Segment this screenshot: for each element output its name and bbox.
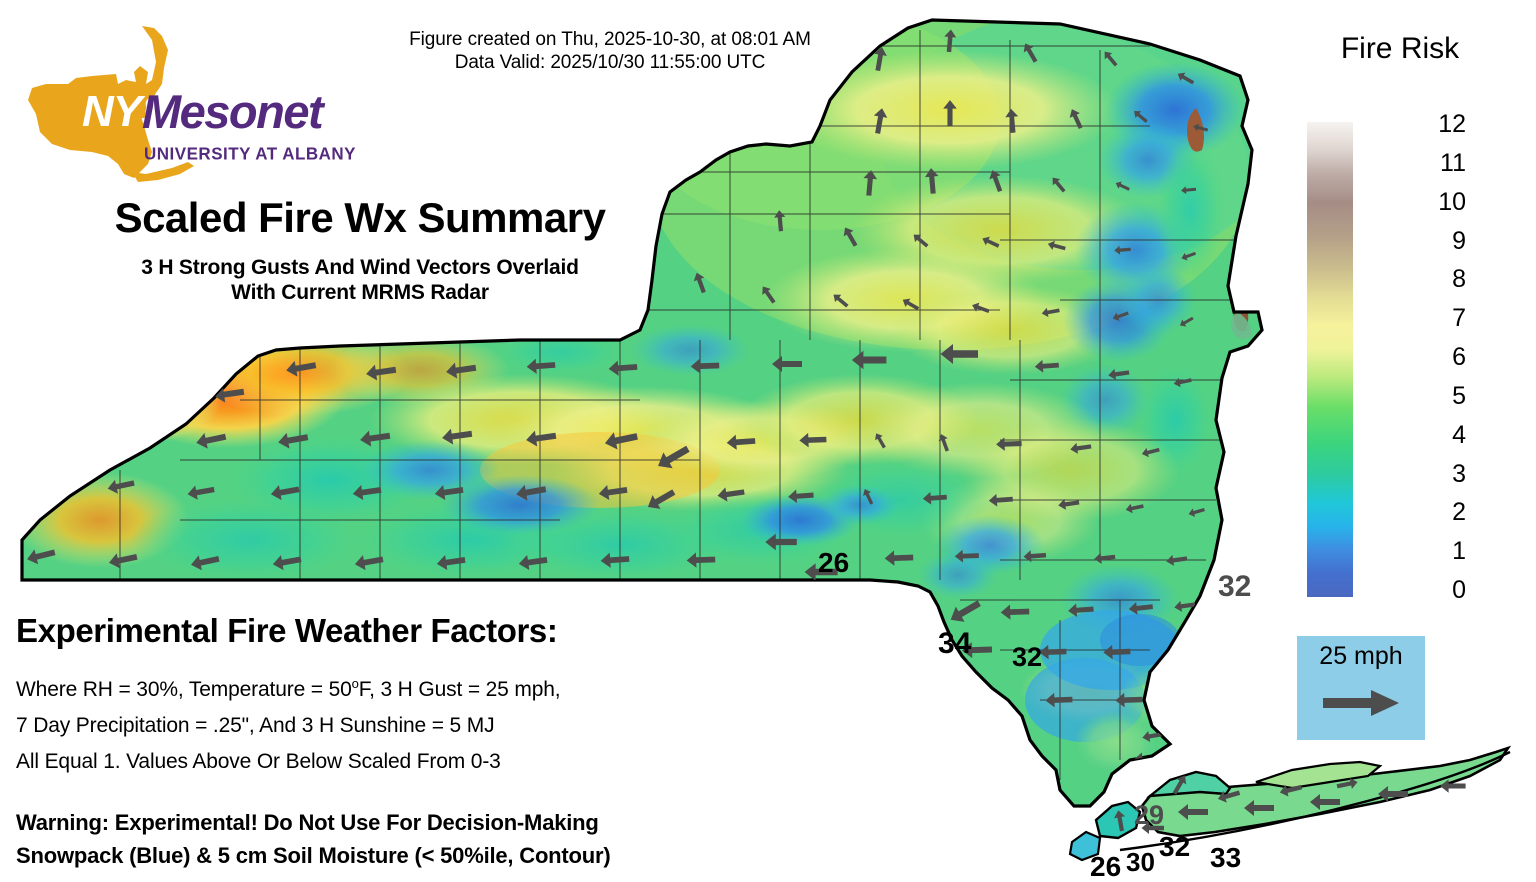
colorbar-tick: 7 xyxy=(1422,306,1466,331)
warning-block: Warning: Experimental! Do Not Use For De… xyxy=(16,806,896,872)
contour-label: 26 xyxy=(818,549,849,577)
colorbar-tick: 9 xyxy=(1422,229,1466,254)
subtitle-line-1: 3 H Strong Gusts And Wind Vectors Overla… xyxy=(44,255,676,280)
contour-label: 32 xyxy=(1159,833,1190,861)
created-line: Figure created on Thu, 2025-10-30, at 08… xyxy=(360,28,860,51)
factors-line-1b: F, 3 H Gust = 25 mph, xyxy=(359,678,561,701)
nys-mesonet-logo: NYS Mesonet UNIVERSITY AT ALBANY xyxy=(22,22,382,187)
factors-line-1: Where RH = 30%, Temperature = 50oF, 3 H … xyxy=(16,672,816,708)
wind-key-arrow-icon xyxy=(1321,688,1403,723)
colorbar-tick: 4 xyxy=(1422,423,1466,448)
colorbar-tick-labels: 1211109876543210 xyxy=(1420,112,1470,604)
contour-label: 29 xyxy=(1134,802,1164,829)
contour-label: 32 xyxy=(1218,572,1251,602)
degree-superscript: o xyxy=(352,676,359,691)
factors-line-1a: Where RH = 30%, Temperature = 50 xyxy=(16,678,352,701)
contour-label: 30 xyxy=(1126,849,1155,875)
colorbar-tick: 8 xyxy=(1422,267,1466,292)
colorbar-tick: 3 xyxy=(1422,462,1466,487)
contour-label: 26 xyxy=(1090,853,1121,881)
wind-vectors-long-island xyxy=(1113,773,1466,834)
contour-label: 34 xyxy=(938,629,971,659)
subtitle-line-2: With Current MRMS Radar xyxy=(44,280,676,305)
figure-canvas: 263432322932302633 NYS Mesonet UNIVERSIT… xyxy=(0,0,1536,876)
valid-line: Data Valid: 2025/10/30 11:55:00 UTC xyxy=(360,51,860,74)
wind-key-label: 25 mph xyxy=(1297,642,1425,671)
colorbar-tick: 0 xyxy=(1422,578,1466,603)
factors-line-2: 7 Day Precipitation = .25", And 3 H Suns… xyxy=(16,708,816,744)
page-subtitle: 3 H Strong Gusts And Wind Vectors Overla… xyxy=(44,255,676,305)
figure-timestamp: Figure created on Thu, 2025-10-30, at 08… xyxy=(360,28,860,74)
factors-body: Where RH = 30%, Temperature = 50oF, 3 H … xyxy=(16,672,816,780)
warning-line-1: Warning: Experimental! Do Not Use For De… xyxy=(16,806,896,839)
colorbar-tick: 5 xyxy=(1422,384,1466,409)
colorbar-tick: 1 xyxy=(1422,539,1466,564)
colorbar-tick: 11 xyxy=(1422,151,1466,176)
colorbar-title: Fire Risk xyxy=(1300,32,1500,66)
factors-heading: Experimental Fire Weather Factors: xyxy=(16,612,557,650)
colorbar-tick: 12 xyxy=(1422,112,1466,137)
fire-risk-colorbar xyxy=(1307,122,1353,597)
colorbar-tick: 2 xyxy=(1422,500,1466,525)
page-title: Scaled Fire Wx Summary xyxy=(50,196,670,240)
contour-label: 33 xyxy=(1210,844,1241,872)
colorbar-tick: 6 xyxy=(1422,345,1466,370)
colorbar-tick: 10 xyxy=(1422,190,1466,215)
contour-label: 32 xyxy=(1012,644,1042,671)
factors-line-3: All Equal 1. Values Above Or Below Scale… xyxy=(16,744,816,780)
svg-text:UNIVERSITY AT ALBANY: UNIVERSITY AT ALBANY xyxy=(144,143,356,163)
svg-text:Mesonet: Mesonet xyxy=(142,85,326,138)
warning-line-2: Snowpack (Blue) & 5 cm Soil Moisture (< … xyxy=(16,839,896,872)
wind-speed-key: 25 mph xyxy=(1297,636,1425,740)
